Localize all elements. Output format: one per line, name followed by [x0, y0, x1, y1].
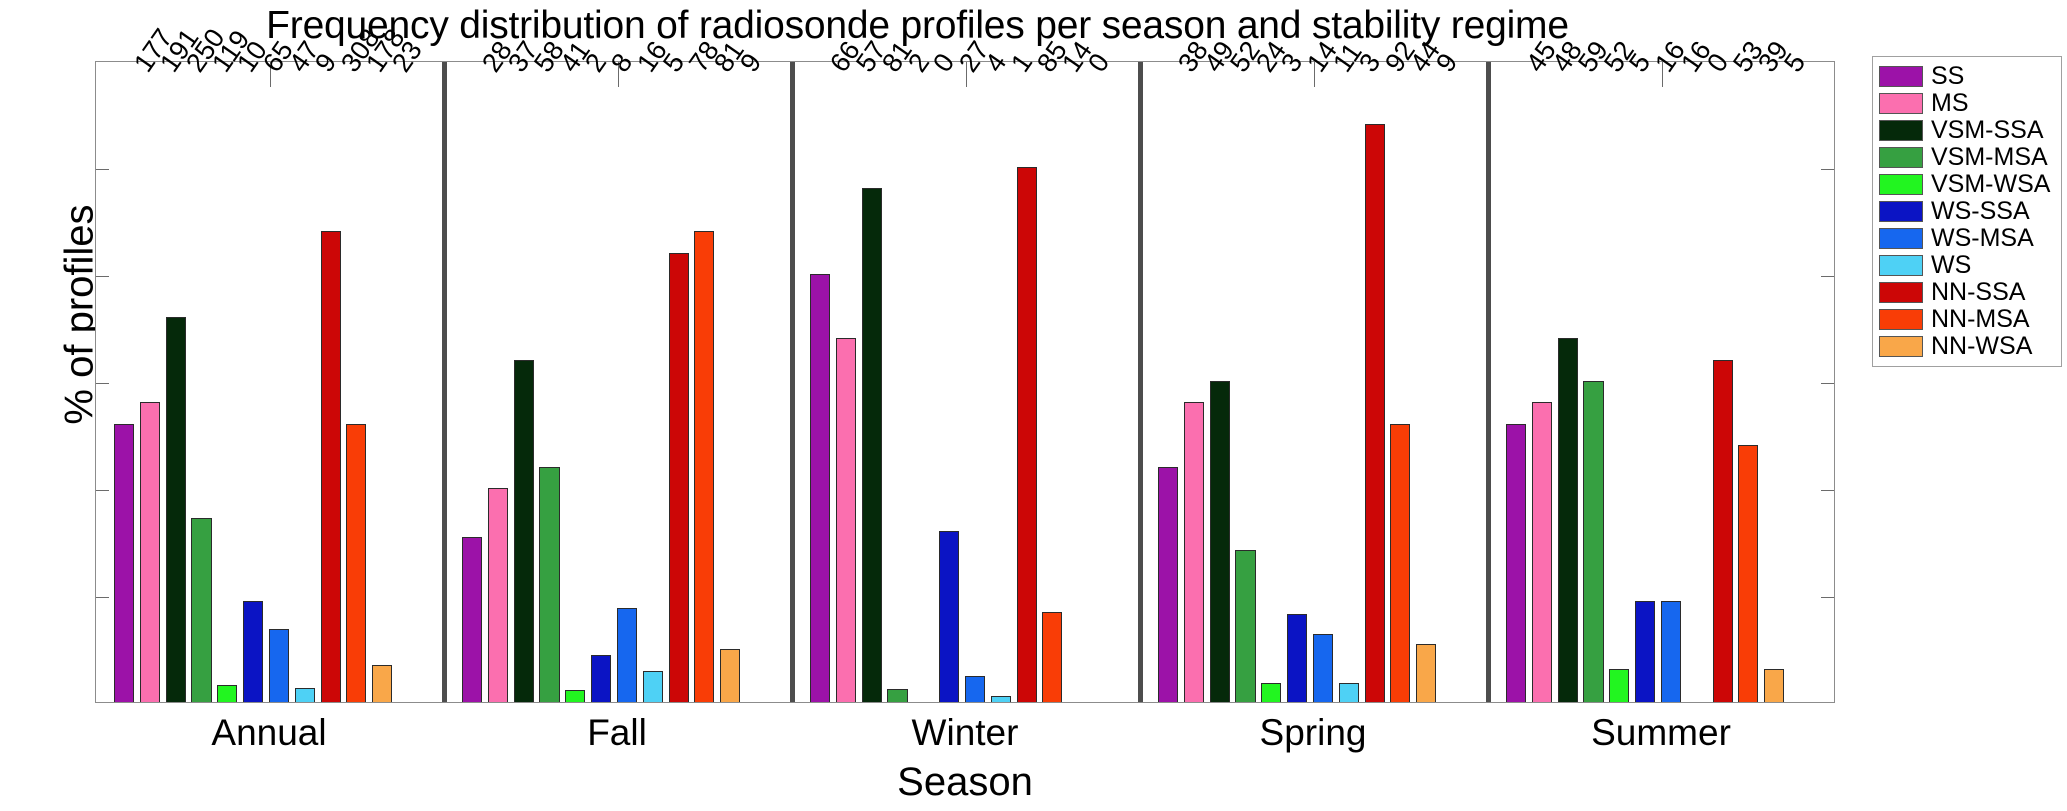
- bar: [694, 231, 714, 702]
- legend-item-label: WS-MSA: [1931, 226, 2034, 251]
- bar: [1017, 167, 1037, 702]
- bar: [514, 360, 534, 702]
- legend-color-swatch: [1879, 282, 1923, 303]
- legend: SSMSVSM-SSAVSM-MSAVSM-WSAWS-SSAWS-MSAWSN…: [1872, 56, 2062, 367]
- y-axis-tick: [96, 597, 109, 598]
- x-axis-category-label: Annual: [95, 712, 443, 754]
- legend-item[interactable]: SS: [1879, 63, 2055, 89]
- legend-color-swatch: [1879, 174, 1923, 195]
- x-axis-category-label: Winter: [791, 712, 1139, 754]
- bar: [810, 274, 830, 702]
- x-axis-label: Season: [95, 760, 1835, 805]
- legend-item-label: SS: [1931, 64, 1964, 89]
- bar: [1661, 601, 1681, 702]
- legend-item-label: MS: [1931, 91, 1969, 116]
- legend-color-swatch: [1879, 336, 1923, 357]
- bar: [1287, 614, 1307, 702]
- bar: [217, 685, 237, 702]
- bar: [1609, 669, 1629, 702]
- legend-item-label: WS-SSA: [1931, 199, 2030, 224]
- bar-count-label: 0: [1701, 48, 1735, 78]
- y-axis-tick: [96, 276, 109, 277]
- bar: [462, 537, 482, 702]
- plot-area: 1771912501191065479308178232837584128165…: [95, 61, 1835, 703]
- bar: [1158, 467, 1178, 702]
- bar: [565, 690, 585, 702]
- legend-item-label: NN-MSA: [1931, 307, 2030, 332]
- bar: [539, 467, 559, 702]
- bar: [1635, 601, 1655, 702]
- y-axis-tick: [1821, 597, 1834, 598]
- bar: [1558, 338, 1578, 702]
- bar: [1713, 360, 1733, 702]
- bar: [939, 531, 959, 702]
- bar: [991, 696, 1011, 702]
- bar: [887, 689, 907, 702]
- x-axis-category-label: Spring: [1139, 712, 1487, 754]
- bar: [643, 671, 663, 702]
- legend-item-label: VSM-WSA: [1931, 172, 2050, 197]
- legend-item[interactable]: NN-WSA: [1879, 333, 2055, 359]
- legend-color-swatch: [1879, 309, 1923, 330]
- bar: [1390, 424, 1410, 702]
- bar: [1313, 634, 1333, 702]
- legend-item-label: WS: [1931, 253, 1971, 278]
- legend-item-label: NN-WSA: [1931, 334, 2032, 359]
- y-axis-tick: [1821, 490, 1834, 491]
- bar-count-label: 9: [734, 48, 768, 78]
- bar-count-label: 9: [309, 48, 343, 78]
- legend-item[interactable]: NN-MSA: [1879, 306, 2055, 332]
- legend-item[interactable]: WS: [1879, 252, 2055, 278]
- bar: [243, 601, 263, 702]
- bar: [965, 676, 985, 702]
- y-axis-tick: [1821, 276, 1834, 277]
- legend-color-swatch: [1879, 228, 1923, 249]
- bar: [862, 188, 882, 702]
- y-axis-tick: [1821, 383, 1834, 384]
- bar: [1210, 381, 1230, 702]
- bar: [346, 424, 366, 702]
- y-axis-tick: [96, 383, 109, 384]
- x-axis-category-label: Summer: [1487, 712, 1835, 754]
- bar: [1583, 381, 1603, 702]
- group-separator: [1486, 62, 1491, 702]
- bar: [1532, 402, 1552, 702]
- bar: [1738, 445, 1758, 702]
- bar-count-label: 0: [1082, 48, 1116, 78]
- bar: [1261, 683, 1281, 702]
- bar: [617, 608, 637, 702]
- bar: [1416, 644, 1436, 702]
- legend-item[interactable]: VSM-MSA: [1879, 144, 2055, 170]
- legend-item[interactable]: VSM-WSA: [1879, 171, 2055, 197]
- bar: [1506, 424, 1526, 702]
- group-separator: [442, 62, 447, 702]
- bar: [669, 253, 689, 702]
- group-separator: [790, 62, 795, 702]
- bar: [488, 488, 508, 702]
- bar: [720, 649, 740, 703]
- legend-color-swatch: [1879, 147, 1923, 168]
- bar: [269, 629, 289, 702]
- bar: [191, 518, 211, 702]
- bar: [1764, 669, 1784, 702]
- legend-item-label: NN-SSA: [1931, 280, 2025, 305]
- y-axis-tick: [96, 490, 109, 491]
- legend-item[interactable]: MS: [1879, 90, 2055, 116]
- group-separator: [1138, 62, 1143, 702]
- bar-count-label: 4: [979, 48, 1013, 78]
- legend-item-label: VSM-SSA: [1931, 118, 2044, 143]
- plot-inner: 1771912501191065479308178232837584128165…: [96, 62, 1834, 702]
- bar: [372, 665, 392, 702]
- legend-item[interactable]: VSM-SSA: [1879, 117, 2055, 143]
- legend-color-swatch: [1879, 66, 1923, 87]
- y-axis-tick: [1821, 169, 1834, 170]
- legend-item[interactable]: NN-SSA: [1879, 279, 2055, 305]
- legend-item[interactable]: WS-MSA: [1879, 225, 2055, 251]
- bar-count-label: 3: [1353, 48, 1387, 78]
- bar-count-label: 9: [1430, 48, 1464, 78]
- bar: [295, 688, 315, 702]
- legend-item-label: VSM-MSA: [1931, 145, 2048, 170]
- bar-count-label: 5: [1778, 48, 1812, 78]
- bar: [1184, 402, 1204, 702]
- legend-color-swatch: [1879, 255, 1923, 276]
- legend-color-swatch: [1879, 120, 1923, 141]
- y-axis-tick: [96, 169, 109, 170]
- legend-color-swatch: [1879, 93, 1923, 114]
- bar: [140, 402, 160, 702]
- bar: [166, 317, 186, 702]
- legend-color-swatch: [1879, 201, 1923, 222]
- x-axis-category-label: Fall: [443, 712, 791, 754]
- bar-count-label: 1: [1005, 48, 1039, 78]
- chart-figure: Frequency distribution of radiosonde pro…: [0, 0, 2067, 811]
- bar: [1339, 683, 1359, 702]
- bar: [836, 338, 856, 702]
- bar: [1042, 612, 1062, 702]
- bar: [114, 424, 134, 702]
- legend-item[interactable]: WS-SSA: [1879, 198, 2055, 224]
- bar: [1365, 124, 1385, 702]
- bar-count-label: 5: [657, 48, 691, 78]
- bar: [591, 655, 611, 702]
- bar: [1235, 550, 1255, 702]
- bar: [321, 231, 341, 702]
